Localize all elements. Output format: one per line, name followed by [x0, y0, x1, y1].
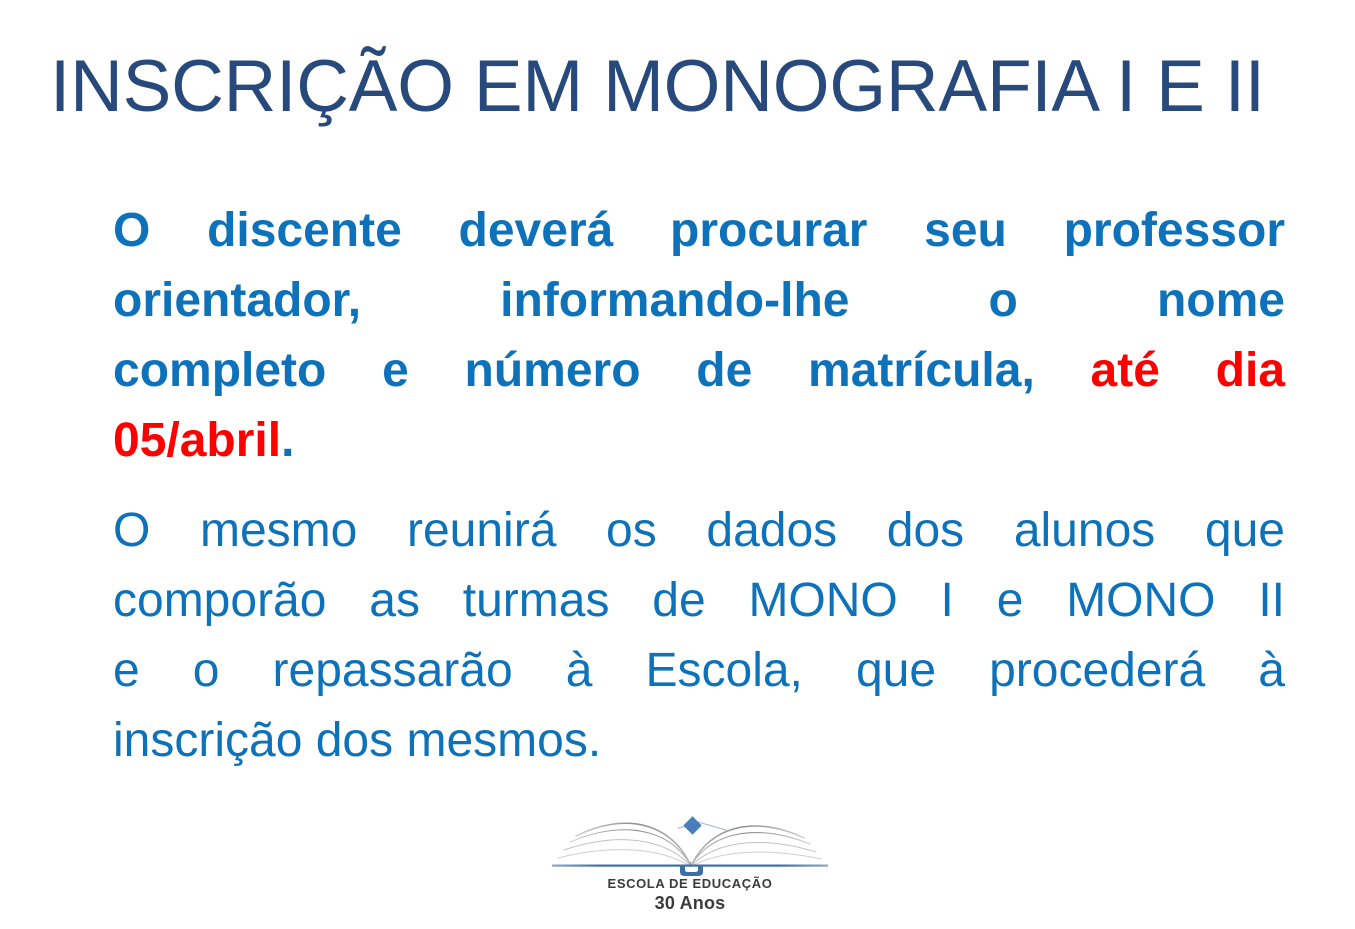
paragraph-bold-line-2: orientador, informando-lhe o nome	[113, 266, 1285, 336]
paragraph-regular-line-4: inscrição dos mesmos.	[113, 706, 1285, 776]
diamond-icon	[683, 816, 701, 834]
page-title: INSCRIÇÃO EM MONOGRAFIA I E II	[50, 48, 1310, 127]
paragraph-bold-line-3: completo e número de matrícula, até dia	[113, 336, 1285, 406]
paragraph-bold-line-4-period: .	[281, 414, 294, 467]
school-logo: ESCOLA DE EDUCAÇÃO 30 Anos	[552, 806, 828, 918]
logo-rule	[552, 865, 828, 867]
deadline-date: 05/abril	[113, 414, 281, 467]
logo-anniversary: 30 Anos	[552, 893, 828, 914]
paragraph-regular-line-3: e o repassarão à Escola, que procederá à	[113, 636, 1285, 706]
open-book-icon	[552, 806, 828, 876]
slide-canvas: INSCRIÇÃO EM MONOGRAFIA I E II O discent…	[0, 0, 1355, 929]
paragraph-bold-line-3-blue: completo e número de matrícula,	[113, 344, 1035, 397]
paragraph-bold-line-3-red: até dia	[1091, 344, 1285, 397]
paragraph-bold-line-4: 05/abril.	[113, 406, 1285, 476]
paragraph-regular: O mesmo reunirá os dados dos alunos que …	[113, 496, 1285, 776]
paragraph-regular-line-1: O mesmo reunirá os dados dos alunos que	[113, 496, 1285, 566]
paragraph-regular-line-2: comporão as turmas de MONO I e MONO II	[113, 566, 1285, 636]
slide-body: O discente deverá procurar seu professor…	[113, 196, 1285, 776]
paragraph-bold-line-1: O discente deverá procurar seu professor	[113, 196, 1285, 266]
logo-school-name: ESCOLA DE EDUCAÇÃO	[552, 876, 828, 891]
paragraph-bold: O discente deverá procurar seu professor…	[113, 196, 1285, 476]
